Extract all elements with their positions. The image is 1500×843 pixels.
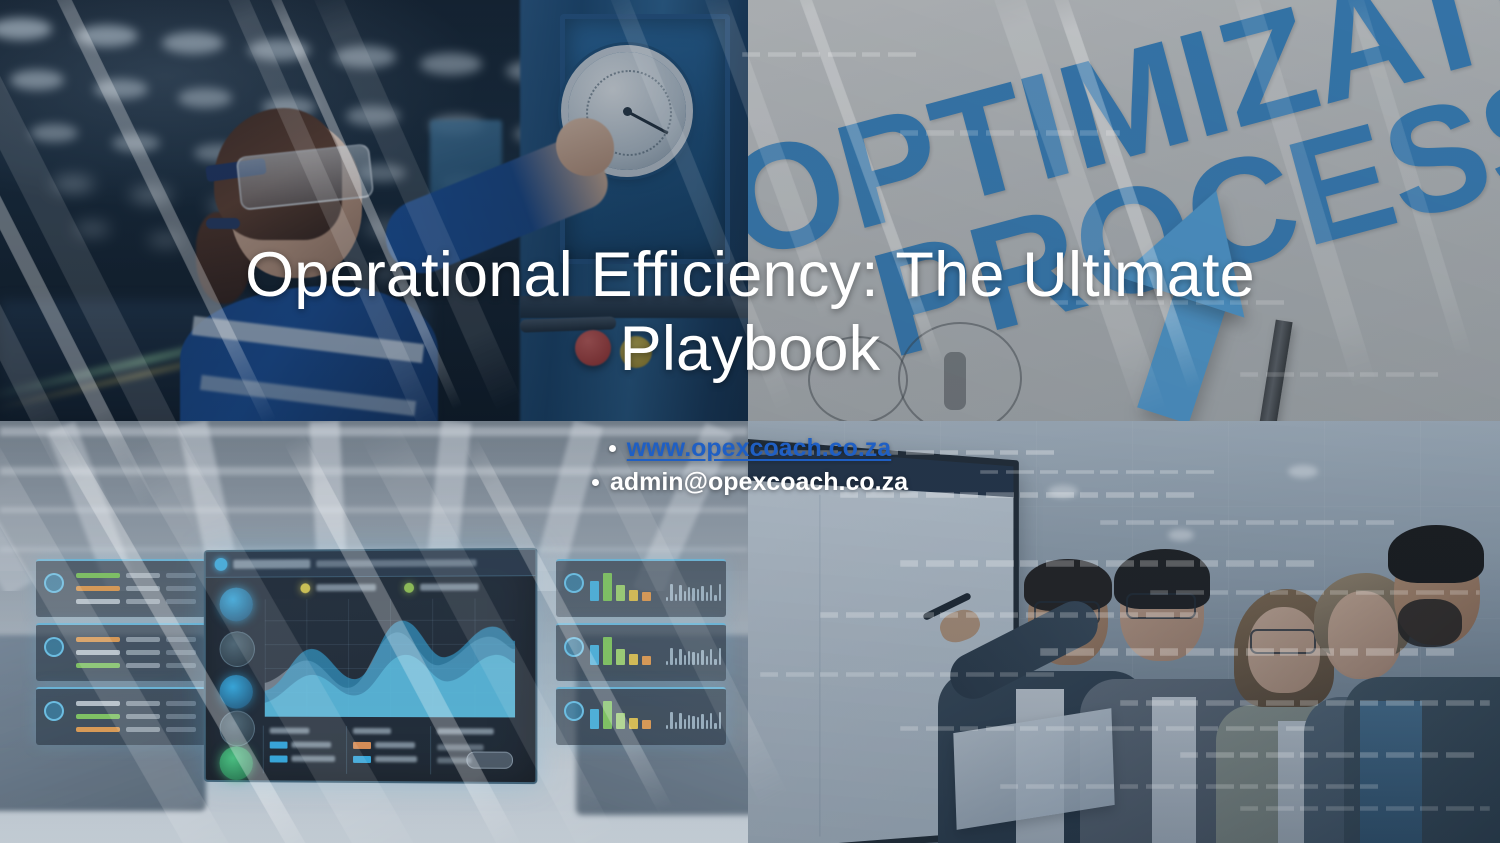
contact-list: www.opexcoach.co.za admin@opexcoach.co.z…: [250, 434, 1250, 502]
bullet-dot-icon: [592, 479, 599, 486]
page-title: Operational Efficiency: The Ultimate Pla…: [150, 238, 1350, 387]
title-line-2: Playbook: [620, 314, 881, 384]
website-link[interactable]: www.opexcoach.co.za: [627, 434, 891, 463]
presentation-title-slide: OPTIMIZATION PROCESS: [0, 0, 1500, 843]
list-item: admin@opexcoach.co.za: [250, 468, 1250, 497]
list-item: www.opexcoach.co.za: [250, 434, 1250, 463]
email-address[interactable]: admin@opexcoach.co.za: [610, 468, 908, 497]
title-line-1: Operational Efficiency: The Ultimate: [245, 240, 1255, 310]
bullet-dot-icon: [609, 445, 616, 452]
